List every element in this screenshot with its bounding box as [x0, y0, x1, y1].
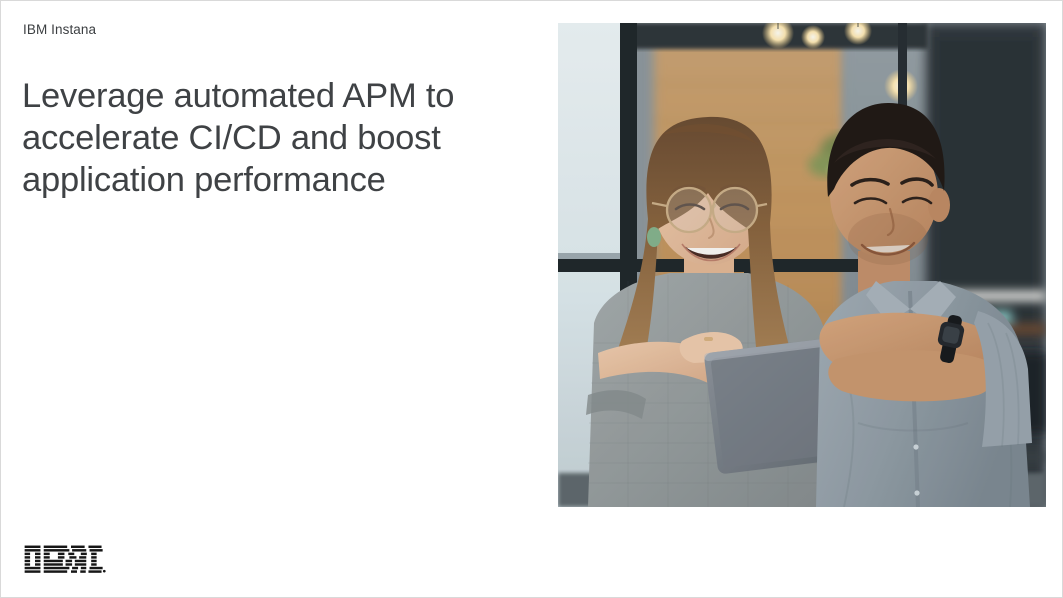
page-title: Leverage automated APM to accelerate CI/… — [22, 75, 522, 201]
hero-photo — [558, 23, 1046, 507]
presentation-slide: IBM Instana Leverage automated APM to ac… — [0, 0, 1063, 598]
title-line-2: accelerate CI/CD and boost — [22, 117, 522, 159]
title-line-3: application performance — [22, 159, 522, 201]
title-line-1: Leverage automated APM to — [22, 75, 522, 117]
ibm-logo — [23, 545, 107, 575]
brand-eyebrow: IBM Instana — [23, 21, 96, 39]
